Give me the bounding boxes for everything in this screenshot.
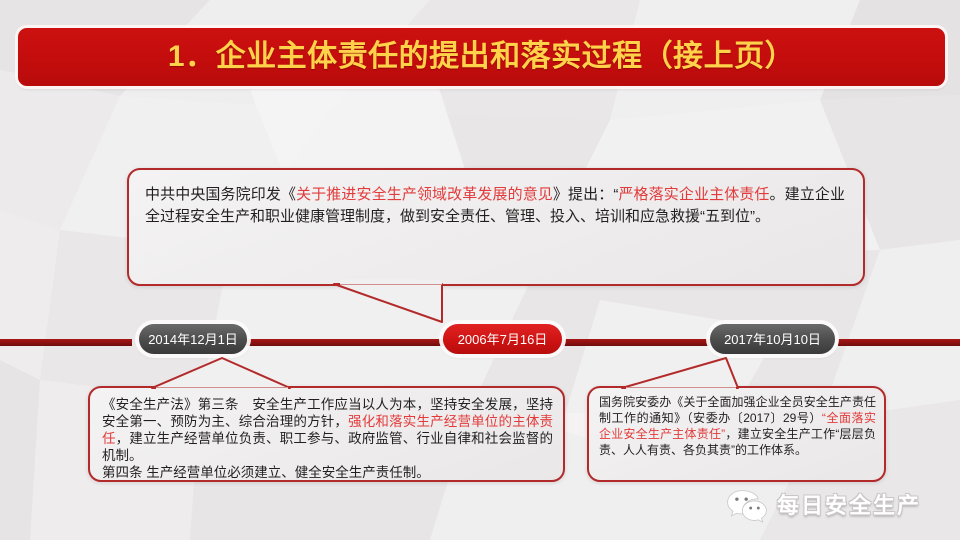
callout-box-right: 国务院安委办《关于全面加强企业全员安全生产责任制工作的通知》（安委办〔2017〕… — [587, 386, 886, 482]
wechat-watermark: 每日安全生产 — [726, 489, 921, 523]
plain-text: 中共中央国务院印发《 — [145, 186, 296, 203]
callout-right-text: 国务院安委办《关于全面加强企业全员安全生产责任制工作的通知》（安委办〔2017〕… — [599, 394, 876, 458]
plain-text: ，建立生产经营单位负责、职工参与、政府监管、行业自律和社会监督的机制。 — [102, 431, 553, 463]
timeline-date-label: 2017年10月10日 — [724, 333, 821, 346]
callout-left-text: 《安全生产法》第三条 安全生产工作应当以人为本，坚持安全发展，坚持安全第一、预防… — [102, 396, 553, 481]
callout-box-left: 《安全生产法》第三条 安全生产工作应当以人为本，坚持安全发展，坚持安全第一、预防… — [88, 386, 565, 482]
callout-box-main: 中共中央国务院印发《关于推进安全生产领域改革发展的意见》提出：“严格落实企业主体… — [127, 168, 865, 286]
callout-left-tail — [150, 356, 310, 392]
page-title: 1．企业主体责任的提出和落实过程（接上页） — [168, 42, 795, 72]
timeline-bar-segment — [0, 339, 132, 346]
callout-main-text: 中共中央国务院印发《关于推进安全生产领域改革发展的意见》提出：“严格落实企业主体… — [145, 184, 845, 228]
highlighted-text: 关于推进安全生产领域改革发展的意见 — [296, 186, 553, 203]
callout-right-tail — [620, 356, 770, 392]
slide-canvas: 1．企业主体责任的提出和落实过程（接上页） 2014年12月1日 2006年7月… — [0, 0, 960, 540]
title-banner: 1．企业主体责任的提出和落实过程（接上页） — [18, 28, 945, 86]
plain-text: 》提出：“ — [553, 186, 618, 203]
timeline-date-pill-2017[interactable]: 2017年10月10日 — [710, 324, 835, 354]
wechat-icon — [726, 489, 768, 523]
callout-main-tail — [330, 282, 470, 344]
highlighted-text: 严格落实企业主体责任 — [618, 186, 769, 203]
timeline-date-label: 2006年7月16日 — [458, 333, 548, 346]
wechat-account-name: 每日安全生产 — [777, 495, 921, 517]
timeline-date-pill-2014[interactable]: 2014年12月1日 — [139, 324, 247, 354]
timeline-bar-segment — [562, 339, 710, 346]
timeline-bar-segment — [838, 339, 960, 346]
timeline-date-label: 2014年12月1日 — [148, 333, 238, 346]
plain-text: 第四条 生产经营单位必须建立、健全安全生产责任制。 — [102, 465, 430, 480]
